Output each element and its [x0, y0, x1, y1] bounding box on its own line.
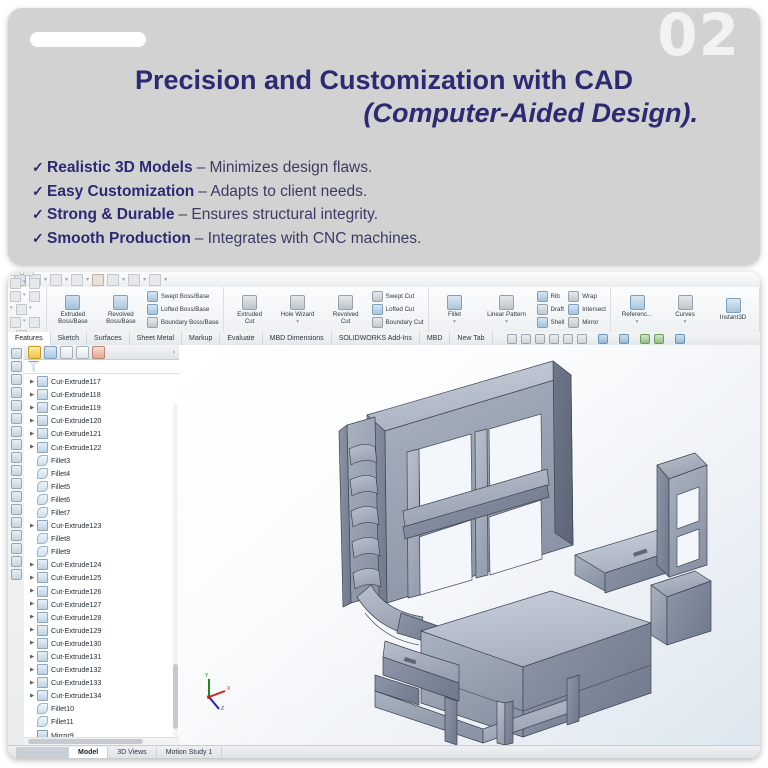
list-item-text: – Minimizes design flaws. [197, 156, 373, 180]
boundary-cut-icon [372, 317, 383, 328]
extruded-boss-icon [65, 295, 80, 310]
dropdown-caret[interactable]: ▾ [636, 319, 639, 325]
feature-tree-item-label: Cut-Extrude121 [51, 429, 101, 438]
ribbon-group-cut: Extruded Cut Hole Wizard ▾ Revolved Cut [224, 287, 429, 332]
measure-icon[interactable] [11, 569, 22, 580]
expand-arrow-icon[interactable]: ▶ [30, 418, 37, 424]
button-label-line2: Cut [245, 318, 255, 325]
intersect-button[interactable]: Intersect [568, 304, 606, 315]
dropdown-caret[interactable]: ▾ [86, 276, 89, 283]
instant3d-button[interactable]: Instant3D [711, 297, 755, 321]
cut-extrude-icon [37, 690, 48, 701]
ribbon-mini-commands: ▾ ▾ ▾ ▾ ▾ ▾ ▾ ▾ [8, 287, 47, 332]
triad-x-label: X [227, 686, 231, 692]
cut-extrude-icon [37, 572, 48, 583]
shell-button[interactable]: Shell [537, 317, 565, 328]
dropdown-caret[interactable]: ▾ [36, 272, 40, 276]
tab-markup[interactable]: Markup [182, 332, 220, 345]
feature-tree-item[interactable]: ▶Fillet5 [24, 480, 179, 493]
view-orientation-icon[interactable] [598, 334, 608, 344]
feature-tree-item-label: Fillet3 [51, 456, 70, 465]
dropdown-caret[interactable]: ▾ [23, 317, 27, 328]
slide-number: 02 [657, 8, 740, 64]
cut-extrude-icon [37, 664, 48, 675]
mirror-entities-icon[interactable] [11, 478, 22, 489]
solidworks-window: ▾ ▾ ▾ ▾ ▾ ▾ ▾ ▾ ▾ [8, 272, 760, 758]
feature-tree-item[interactable]: ▶Cut-Extrude118 [24, 388, 179, 401]
feature-tree-item[interactable]: ▶Cut-Extrude117 [24, 375, 179, 388]
lofted-boss-base-button[interactable]: Lofted Boss/Base [147, 304, 219, 315]
dropdown-caret[interactable]: ▾ [296, 319, 299, 325]
tab-surfaces[interactable]: Surfaces [87, 332, 130, 345]
feature-tree-item-label: Cut-Extrude117 [51, 377, 101, 386]
cut-extrude-icon [37, 559, 48, 570]
feature-tree-item-label: Cut-Extrude127 [51, 600, 101, 609]
mirror-icon [568, 317, 579, 328]
feature-tree-item[interactable]: ▶Fillet9 [24, 545, 179, 558]
revolved-boss-base-button[interactable]: Revolved Boss/Base [99, 294, 143, 326]
cut-extrude-icon [37, 677, 48, 688]
title-line-1: Precision and Customization with CAD [36, 64, 732, 97]
button-label: Swept Boss/Base [161, 293, 210, 300]
open-folder-icon[interactable] [29, 317, 40, 328]
feature-tree-item[interactable]: ▶Cut-Extrude125 [24, 571, 179, 584]
feature-tree-filter[interactable] [24, 360, 179, 374]
expand-arrow-icon[interactable]: ▶ [30, 654, 37, 660]
boundary-boss-icon [147, 317, 158, 328]
lofted-cut-button[interactable]: Lofted Cut [372, 304, 424, 315]
button-label-line2: Cut [341, 318, 351, 325]
button-label-line1: Hole Wizard [281, 311, 315, 318]
feature-tree-item[interactable]: ▶Cut-Extrude120 [24, 414, 179, 427]
quick-access-toolbar: ▾ ▾ ▾ ▾ ▾ ▾ [8, 272, 760, 288]
revolved-cut-icon [338, 295, 353, 310]
cut-extrude-icon [37, 402, 48, 413]
button-label: Boundary Cut [386, 319, 424, 326]
features-stack-2: Wrap Intersect Mirror [568, 291, 606, 328]
expand-arrow-icon[interactable]: ▶ [30, 667, 37, 673]
expand-arrow-icon[interactable]: ▶ [30, 405, 37, 411]
button-label: Swept Cut [386, 293, 415, 300]
feature-tree-item-label: Fillet5 [51, 482, 70, 491]
revolved-cut-button[interactable]: Revolved Cut [324, 294, 368, 326]
dropdown-caret[interactable]: ▾ [23, 291, 27, 302]
pan-icon[interactable] [563, 334, 573, 344]
title-line-2: (Computer-Aided Design). [36, 97, 732, 130]
feature-tree-item[interactable]: ▶Cut-Extrude119 [24, 401, 179, 414]
backrest-side-rail [339, 417, 381, 607]
button-label: Draft [551, 306, 564, 313]
check-icon: ✓ [32, 228, 47, 249]
feature-tree-item[interactable]: ▶Mirror9 [24, 729, 179, 737]
expand-arrow-icon[interactable]: ▶ [30, 601, 37, 607]
list-item-text: – Integrates with CNC machines. [195, 227, 422, 251]
feature-tree-item-label: Fillet4 [51, 469, 70, 478]
feature-tree-item[interactable]: ▶Fillet6 [24, 493, 179, 506]
dropdown-caret[interactable]: ▾ [10, 304, 14, 315]
dropdown-caret[interactable] [633, 335, 636, 343]
toolbar-separator [591, 335, 594, 343]
curves-button[interactable]: Curves ▾ [663, 294, 707, 326]
cut-stack: Swept Cut Lofted Cut Boundary Cut [372, 291, 424, 328]
feature-tree-item-label: Cut-Extrude120 [51, 416, 101, 425]
line-icon[interactable] [11, 374, 22, 385]
linear-pattern-icon [499, 295, 514, 310]
expand-arrow-icon[interactable]: ▶ [30, 431, 37, 437]
command-tab-strip: Features Sketch Surfaces Sheet Metal Mar… [8, 332, 760, 346]
feature-tree-item-label: Fillet7 [51, 508, 70, 517]
rapid-sketch-icon[interactable] [11, 556, 22, 567]
extruded-boss-base-button[interactable]: Extruded Boss/Base [51, 294, 95, 326]
list-item-title: Strong & Durable [47, 203, 174, 227]
orientation-triad: Y X Z [195, 671, 239, 711]
triad-z-label: Z [221, 706, 224, 711]
button-label-line1: Linear Pattern [487, 311, 526, 318]
right-outrigger [651, 571, 711, 645]
swept-boss-base-button[interactable]: Swept Boss/Base [147, 291, 219, 302]
mirror-button[interactable]: Mirror [568, 317, 606, 328]
undo-icon[interactable] [128, 274, 140, 286]
open-folder-icon[interactable] [50, 274, 62, 286]
fillet-icon [37, 481, 48, 492]
feature-tree-item-label: Cut-Extrude119 [51, 403, 101, 412]
display-style-icon[interactable] [619, 334, 629, 344]
print-icon[interactable] [29, 291, 40, 302]
edit-appearance-icon[interactable] [654, 334, 664, 344]
fillet-icon [447, 295, 462, 310]
feature-tree-item[interactable]: ▶Fillet11 [24, 715, 179, 728]
apply-scene-icon[interactable] [675, 334, 685, 344]
feature-manager-tab-strip: › [24, 345, 179, 360]
home-icon[interactable] [10, 272, 21, 276]
feature-tree-list[interactable]: ▶Cut-Extrude117▶Cut-Extrude118▶Cut-Extru… [24, 374, 179, 737]
slide-page: 02 Precision and Customization with CAD … [0, 0, 768, 768]
section-view-icon[interactable] [577, 334, 587, 344]
list-item-title: Easy Customization [47, 180, 194, 204]
bullet-list: ✓ Realistic 3D Models – Minimizes design… [32, 156, 732, 250]
cut-extrude-icon [37, 586, 48, 597]
list-item-text: – Adapts to client needs. [198, 180, 367, 204]
save-icon[interactable] [71, 274, 83, 286]
select-cursor-icon[interactable] [16, 304, 27, 315]
bottom-tab-motion-study[interactable]: Motion Study 1 [157, 747, 223, 759]
button-label-line2: Boss/Base [106, 318, 136, 325]
feature-tree-item-label: Cut-Extrude129 [51, 626, 101, 635]
feature-tree-item[interactable]: ▶Cut-Extrude122 [24, 440, 179, 453]
expand-arrow-icon[interactable]: ▶ [30, 379, 37, 385]
expand-arrow-icon[interactable]: ▶ [30, 693, 37, 699]
tree-horizontal-scroll-thumb[interactable] [28, 739, 143, 744]
check-icon: ✓ [32, 204, 47, 225]
feature-tree-item-label: Cut-Extrude128 [51, 613, 101, 622]
features-stack-1: Rib Draft Shell [537, 291, 565, 328]
button-label-line1: Revolved [108, 311, 134, 318]
tab-sheet-metal[interactable]: Sheet Metal [130, 332, 182, 345]
feature-tree-item[interactable]: ▶Fillet8 [24, 532, 179, 545]
feature-tree-item[interactable]: ▶Cut-Extrude128 [24, 611, 179, 624]
check-icon: ✓ [32, 181, 47, 202]
feature-tree-item[interactable]: ▶Fillet4 [24, 467, 179, 480]
cad-model [179, 345, 760, 745]
zoom-to-fit-icon[interactable] [507, 334, 517, 344]
expand-arrow-icon[interactable]: ▶ [30, 614, 37, 620]
feature-tree-item[interactable]: ▶Cut-Extrude123 [24, 519, 179, 532]
options-gear-icon[interactable] [10, 317, 21, 328]
dropdown-caret[interactable]: ▾ [505, 319, 508, 325]
spline-icon[interactable] [11, 426, 22, 437]
dropdown-caret[interactable] [689, 335, 692, 343]
button-label-line1: Fillet [448, 311, 461, 318]
feature-tree-item-label: Cut-Extrude130 [51, 639, 101, 648]
expand-arrow-icon[interactable]: ▶ [30, 588, 37, 594]
linear-pattern-button[interactable]: Linear Pattern ▾ [481, 294, 533, 326]
hide-show-items-icon[interactable] [640, 334, 650, 344]
graphics-viewport[interactable]: Y X Z [179, 345, 760, 745]
save-icon[interactable] [23, 272, 34, 276]
feature-tree-item-label: Cut-Extrude125 [51, 573, 101, 582]
configuration-manager-icon[interactable] [60, 346, 73, 359]
header-banner: 02 Precision and Customization with CAD … [8, 8, 760, 264]
expand-arrow-icon[interactable]: ▶ [30, 680, 37, 686]
rib-button[interactable]: Rib [537, 291, 565, 302]
view-toolbar [493, 332, 692, 345]
list-item: ✓ Realistic 3D Models – Minimizes design… [32, 156, 732, 180]
fillet-icon [37, 533, 48, 544]
draft-icon [537, 304, 548, 315]
expand-arrow-icon[interactable]: ▶ [30, 640, 37, 646]
list-item-title: Realistic 3D Models [47, 156, 193, 180]
ribbon-group-boss-base: Extruded Boss/Base Revolved Boss/Base Sw… [47, 287, 224, 332]
rebuild-icon[interactable] [29, 278, 40, 289]
redo-icon[interactable] [149, 274, 161, 286]
button-label: Lofted Cut [386, 306, 415, 313]
revolved-boss-icon [113, 295, 128, 310]
button-label: Boundary Boss/Base [161, 319, 219, 326]
feature-tree-item-label: Fillet6 [51, 495, 70, 504]
dropdown-caret[interactable] [668, 335, 671, 343]
rectangle-icon[interactable] [11, 387, 22, 398]
dropdown-caret[interactable]: ▾ [122, 276, 125, 283]
dropdown-caret[interactable] [612, 335, 615, 343]
dropdown-caret[interactable]: ▾ [23, 278, 27, 289]
fillet-icon [37, 703, 48, 714]
tab-sketch[interactable]: Sketch [51, 332, 87, 345]
feature-tree-item[interactable]: ▶Cut-Extrude124 [24, 558, 179, 571]
bottom-tab-3d-views[interactable]: 3D Views [108, 747, 156, 759]
dropdown-caret[interactable]: ▾ [684, 319, 687, 325]
feature-tree-item[interactable]: ▶Fillet3 [24, 454, 179, 467]
move-entities-icon[interactable] [11, 504, 22, 515]
cut-extrude-icon [37, 520, 48, 531]
lofted-cut-icon [372, 304, 383, 315]
feature-tree-item-label: Cut-Extrude126 [51, 587, 101, 596]
button-label: Mirror [582, 319, 598, 326]
sketch-icon[interactable] [11, 348, 22, 359]
boundary-boss-base-button[interactable]: Boundary Boss/Base [147, 317, 219, 328]
cut-extrude-icon [37, 442, 48, 453]
feature-tree-item-label: Fillet9 [51, 547, 70, 556]
rotate-view-icon[interactable] [549, 334, 559, 344]
right-bracket-stack [657, 453, 707, 577]
feature-tree-item-label: Cut-Extrude132 [51, 665, 101, 674]
wrap-button[interactable]: Wrap [568, 291, 606, 302]
dropdown-caret[interactable]: ▾ [65, 276, 68, 283]
tab-solidworks-add-ins[interactable]: SOLIDWORKS Add-Ins [332, 332, 420, 345]
fillet-icon [37, 455, 48, 466]
lofted-boss-icon [147, 304, 158, 315]
button-label: Rib [551, 293, 560, 300]
feature-tree-item-label: Fillet11 [51, 717, 74, 726]
draft-button[interactable]: Draft [537, 304, 565, 315]
button-label-line1: Referenc... [622, 311, 652, 318]
feature-tree-item[interactable]: ▶Cut-Extrude126 [24, 585, 179, 598]
boss-base-stack: Swept Boss/Base Lofted Boss/Base Boundar… [147, 291, 219, 328]
linear-sketch-pattern-icon[interactable] [11, 491, 22, 502]
options-gear-icon[interactable] [107, 274, 119, 286]
button-label-line1: Extruded [60, 311, 85, 318]
feature-tree-item[interactable]: ▶Cut-Extrude133 [24, 676, 179, 689]
feature-tree-icon[interactable] [28, 346, 41, 359]
check-icon: ✓ [32, 157, 47, 178]
fillet-icon [37, 546, 48, 557]
instant3d-icon [726, 298, 741, 313]
button-label-line2: Boss/Base [58, 318, 88, 325]
feature-tree-item[interactable]: ▶Cut-Extrude127 [24, 598, 179, 611]
feature-tree-item[interactable]: ▶Cut-Extrude129 [24, 624, 179, 637]
tab-new-tab[interactable]: New Tab [450, 332, 492, 345]
display-manager-icon[interactable] [92, 346, 105, 359]
swept-cut-button[interactable]: Swept Cut [372, 291, 424, 302]
dropdown-caret[interactable]: ▾ [29, 304, 33, 315]
cut-extrude-icon [37, 599, 48, 610]
button-label-line1: Revolved [333, 311, 359, 318]
hole-wizard-button[interactable]: Hole Wizard ▾ [276, 294, 320, 326]
swept-cut-icon [372, 291, 383, 302]
new-document-icon[interactable] [10, 291, 21, 302]
arc-icon[interactable] [11, 413, 22, 424]
button-label: Shell [551, 319, 565, 326]
front-strut [497, 701, 513, 745]
feature-manager-panel: › ▶Cut-Extrude117▶Cut-Extrude118▶Cut-Ext… [24, 345, 180, 745]
tree-horizontal-scrollbar[interactable] [24, 737, 179, 745]
cut-extrude-icon [37, 625, 48, 636]
bottom-tab-model[interactable]: Model [69, 747, 108, 759]
chevron-right-icon[interactable]: › [173, 349, 175, 356]
feature-tree-item-label: Fillet8 [51, 534, 70, 543]
reference-geometry-button[interactable]: Referenc... ▾ [615, 294, 659, 326]
cut-extrude-icon [37, 651, 48, 662]
hole-wizard-icon [290, 295, 305, 310]
tab-mbd-dimensions[interactable]: MBD Dimensions [263, 332, 332, 345]
quick-snaps-icon[interactable] [11, 543, 22, 554]
fillet-icon [37, 507, 48, 518]
list-item-text: – Ensures structural integrity. [178, 203, 378, 227]
circle-icon[interactable] [11, 400, 22, 411]
cut-extrude-icon [37, 376, 48, 387]
undo-icon[interactable] [10, 278, 21, 289]
ribbon-group-features: Fillet ▾ Linear Pattern ▾ Rib Draft [429, 287, 612, 332]
triad-y-label: Y [205, 673, 209, 679]
fillet-icon [37, 494, 48, 505]
cut-extrude-icon [37, 612, 48, 623]
decorative-pill [30, 32, 146, 47]
tab-scroll-placeholder[interactable] [16, 747, 69, 759]
fillet-icon [37, 716, 48, 727]
display-delete-relations-icon[interactable] [11, 517, 22, 528]
backrest-frame [367, 361, 573, 603]
smart-dimension-icon[interactable] [11, 361, 22, 372]
expand-arrow-icon[interactable]: ▶ [30, 562, 37, 568]
filter-icon [28, 361, 39, 372]
property-manager-icon[interactable] [44, 346, 57, 359]
feature-tree-item[interactable]: ▶Cut-Extrude130 [24, 637, 179, 650]
feature-tree-item[interactable]: ▶Fillet10 [24, 702, 179, 715]
boundary-cut-button[interactable]: Boundary Cut [372, 317, 424, 328]
expand-arrow-icon[interactable]: ▶ [30, 392, 37, 398]
extruded-cut-icon [242, 295, 257, 310]
offset-entities-icon[interactable] [11, 465, 22, 476]
button-label-line1: Instant3D [720, 314, 746, 321]
intersect-icon [568, 304, 579, 315]
zoom-to-area-icon[interactable] [521, 334, 531, 344]
feature-tree-item-label: Cut-Extrude124 [51, 560, 101, 569]
expand-arrow-icon[interactable]: ▶ [30, 575, 37, 581]
button-label: Intersect [582, 306, 606, 313]
expand-arrow-icon[interactable]: ▶ [30, 523, 37, 529]
print-icon[interactable] [92, 274, 104, 286]
expand-arrow-icon[interactable]: ▶ [30, 627, 37, 633]
button-label: Lofted Boss/Base [161, 306, 210, 313]
feature-tree-item-label: Cut-Extrude131 [51, 652, 101, 661]
button-label-line1: Curves [675, 311, 695, 318]
zoom-in-out-icon[interactable] [535, 334, 545, 344]
repair-sketch-icon[interactable] [11, 530, 22, 541]
dimxpert-manager-icon[interactable] [76, 346, 89, 359]
curves-icon [678, 295, 693, 310]
fillet-icon [37, 468, 48, 479]
document-tab-strip: Model 3D Views Motion Study 1 [8, 745, 760, 758]
tab-evaluate[interactable]: Evaluate [220, 332, 262, 345]
trim-entities-icon[interactable] [11, 439, 22, 450]
list-item-title: Smooth Production [47, 227, 191, 251]
convert-entities-icon[interactable] [11, 452, 22, 463]
ribbon-toolbar: ▾ ▾ ▾ ▾ ▾ ▾ ▾ ▾ [8, 287, 760, 333]
expand-arrow-icon[interactable]: ▶ [30, 444, 37, 450]
feature-tree-item[interactable]: ▶Cut-Extrude134 [24, 689, 179, 702]
dropdown-caret[interactable]: ▾ [453, 319, 456, 325]
tab-features[interactable]: Features [8, 332, 51, 345]
feature-tree-item-label: Cut-Extrude134 [51, 691, 101, 700]
feature-tree-item[interactable]: ▶Cut-Extrude131 [24, 650, 179, 663]
page-title: Precision and Customization with CAD (Co… [8, 64, 760, 130]
cut-extrude-icon [37, 638, 48, 649]
button-label: Wrap [582, 293, 597, 300]
feature-tree-item[interactable]: ▶Fillet7 [24, 506, 179, 519]
fillet-button[interactable]: Fillet ▾ [433, 294, 477, 326]
tree-vertical-scroll-thumb[interactable] [173, 664, 178, 729]
feature-tree-item[interactable]: ▶Cut-Extrude121 [24, 427, 179, 440]
dropdown-caret[interactable]: ▾ [143, 276, 146, 283]
extruded-cut-button[interactable]: Extruded Cut [228, 294, 272, 326]
tab-mbd[interactable]: MBD [420, 332, 451, 345]
dropdown-caret[interactable]: ▾ [164, 276, 167, 283]
wrap-icon [568, 291, 579, 302]
cut-extrude-icon [37, 389, 48, 400]
feature-tree-item[interactable]: ▶Cut-Extrude132 [24, 663, 179, 676]
dropdown-caret[interactable]: ▾ [44, 276, 47, 283]
list-item: ✓ Strong & Durable – Ensures structural … [32, 203, 732, 227]
feature-tree-item-label: Fillet10 [51, 704, 74, 713]
